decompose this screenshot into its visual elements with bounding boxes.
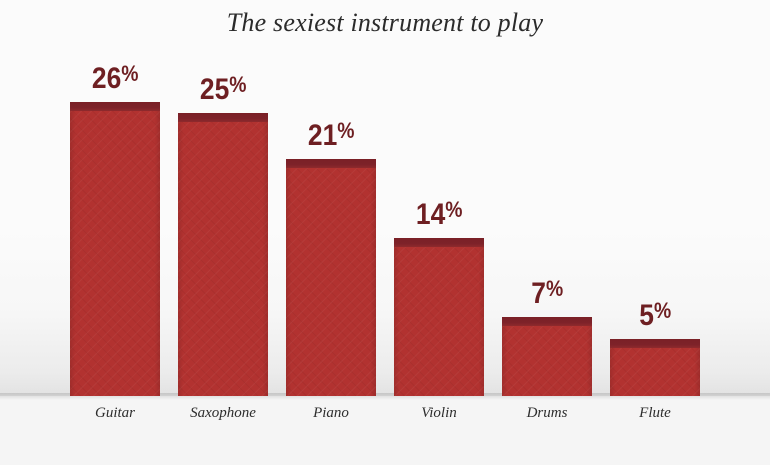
bar-series: 26%25%21%14%7%5% [0,0,770,396]
bar-value-label: 25% [183,70,262,105]
bar-value-number: 25 [200,73,229,106]
bar-top-cap [178,113,268,122]
bar[interactable] [70,102,160,396]
bar-top-cap [286,159,376,168]
x-axis-label-saxophone: Saxophone [178,405,268,422]
bar-value-label: 26% [75,59,154,94]
bar-value-label: 5% [615,296,694,331]
bar-value-number: 21 [308,119,337,152]
percent-sign: % [229,72,246,97]
bar-top-cap [394,238,484,247]
x-axis-label-violin: Violin [394,405,484,422]
bar[interactable] [286,159,376,396]
bar-value-number: 5 [639,299,654,332]
bar[interactable] [610,339,700,396]
bar-value-label: 14% [399,195,478,230]
bar-top-cap [502,317,592,326]
bar-value-number: 26 [92,62,121,95]
percent-sign: % [337,118,354,143]
bar[interactable] [394,238,484,396]
percent-sign: % [445,197,462,222]
percent-sign: % [121,61,138,86]
bar[interactable] [178,113,268,396]
bar-group: 5% [610,0,700,396]
x-axis-labels: GuitarSaxophonePianoViolinDrumsFlute [0,400,770,430]
bar-group: 7% [502,0,592,396]
percent-sign: % [546,276,563,301]
chart-container: The sexiest instrument to play 26%25%21%… [0,0,770,465]
x-axis-label-flute: Flute [610,405,700,422]
x-axis-label-drums: Drums [502,405,592,422]
bar-top-cap [610,339,700,348]
bar-value-label: 7% [507,274,586,309]
bar-value-number: 14 [416,198,445,231]
bar-group: 14% [394,0,484,396]
bar-group: 21% [286,0,376,396]
bar-top-cap [70,102,160,111]
bar[interactable] [502,317,592,396]
bar-value-number: 7 [531,277,546,310]
bar-group: 26% [70,0,160,396]
bar-group: 25% [178,0,268,396]
percent-sign: % [654,298,671,323]
x-axis-label-guitar: Guitar [70,405,160,422]
x-axis-label-piano: Piano [286,405,376,422]
bar-value-label: 21% [291,116,370,151]
